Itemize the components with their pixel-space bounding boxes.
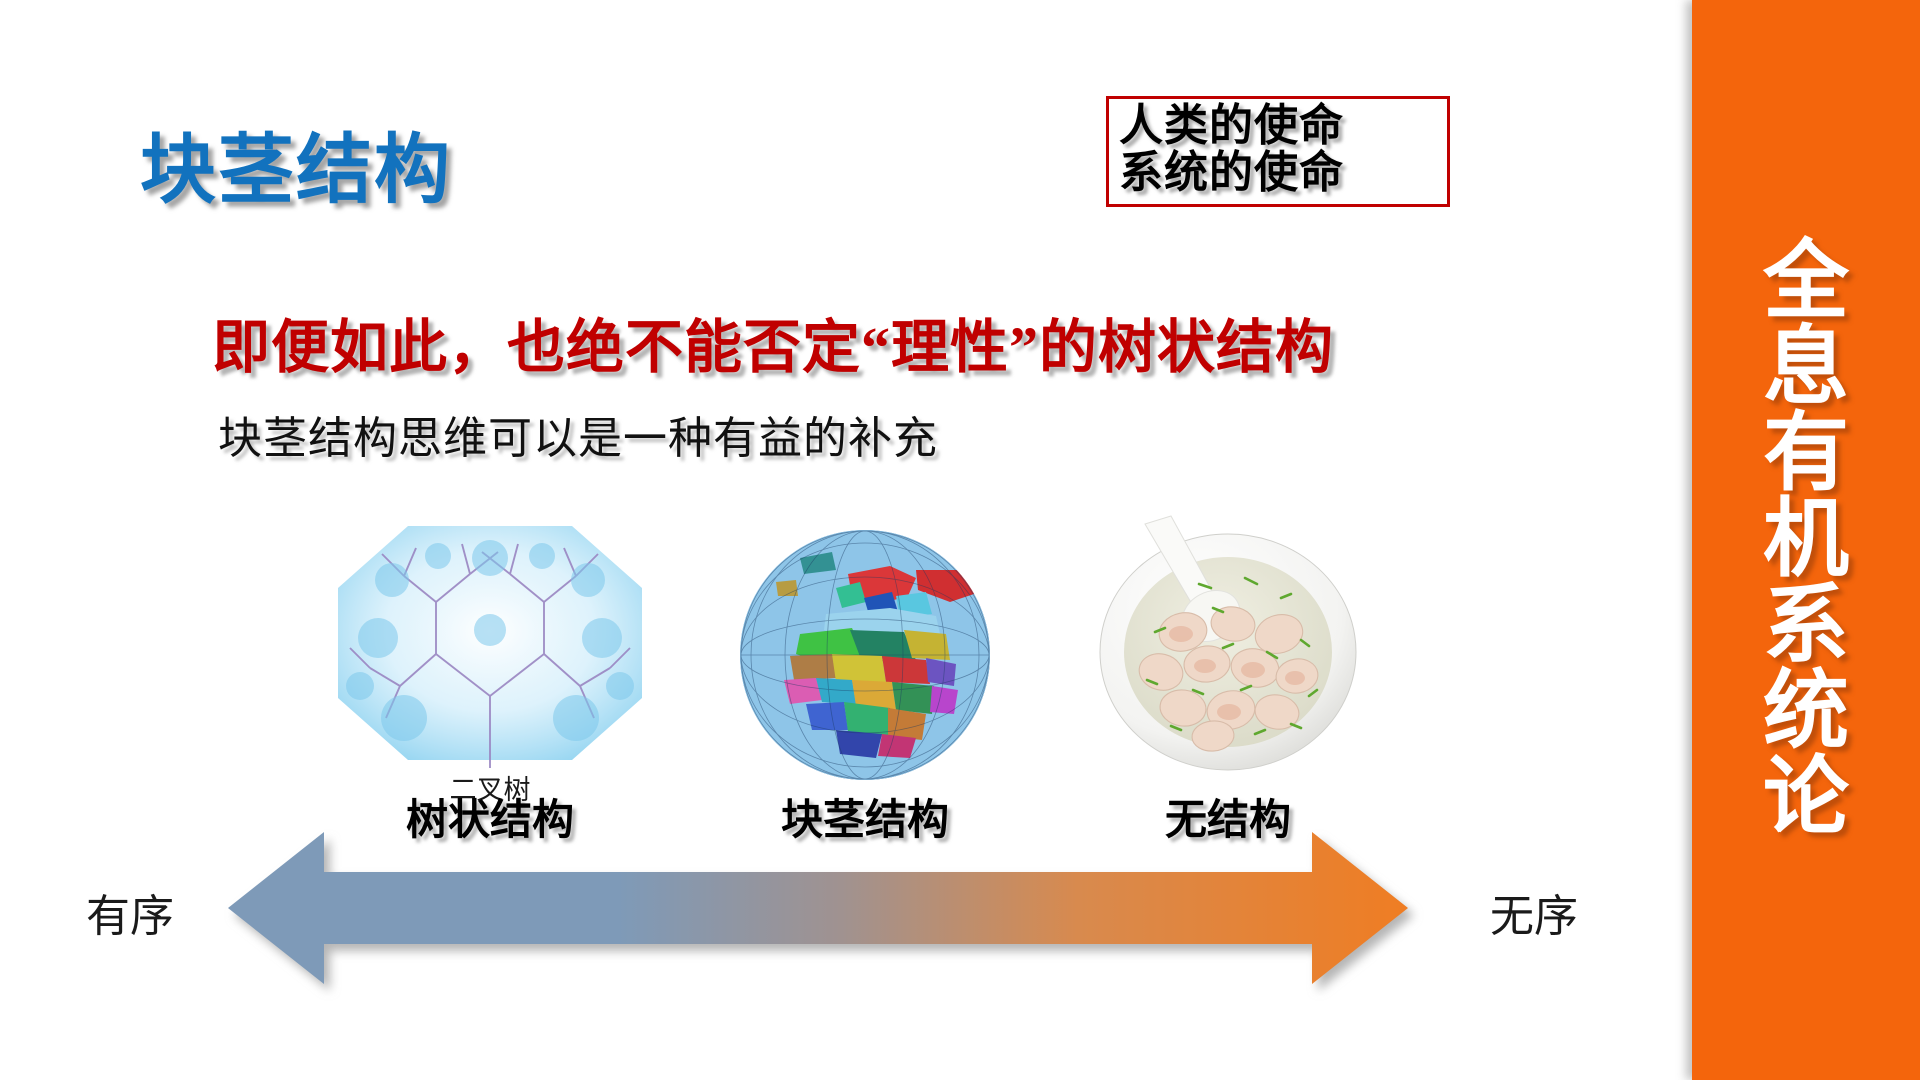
wonton-bowl-image [1095,512,1361,774]
order-disorder-arrow [228,828,1408,988]
sidebar-banner: 全 息 有 机 系 统 论 [1692,0,1920,1080]
axis-label-order: 有序 [86,880,174,944]
slide-canvas: 块茎结构 人类的使命 系统的使命 即便如此，也绝不能否定“理性”的树状结构 块茎… [0,0,1920,1080]
axis-label-disorder: 无序 [1490,880,1578,944]
sidebar-char-1: 息 [1692,324,1920,410]
sidebar-char-6: 论 [1692,754,1920,840]
globe-sphere [740,530,990,780]
sidebar-vertical-title: 全 息 有 机 系 统 论 [1692,238,1920,840]
sidebar-char-4: 系 [1692,582,1920,668]
sidebar-char-2: 有 [1692,410,1920,496]
globe-image [740,530,990,780]
sidebar-char-5: 统 [1692,668,1920,754]
sidebar-char-3: 机 [1692,496,1920,582]
binary-tree-image [330,518,650,768]
sidebar-char-0: 全 [1692,238,1920,324]
